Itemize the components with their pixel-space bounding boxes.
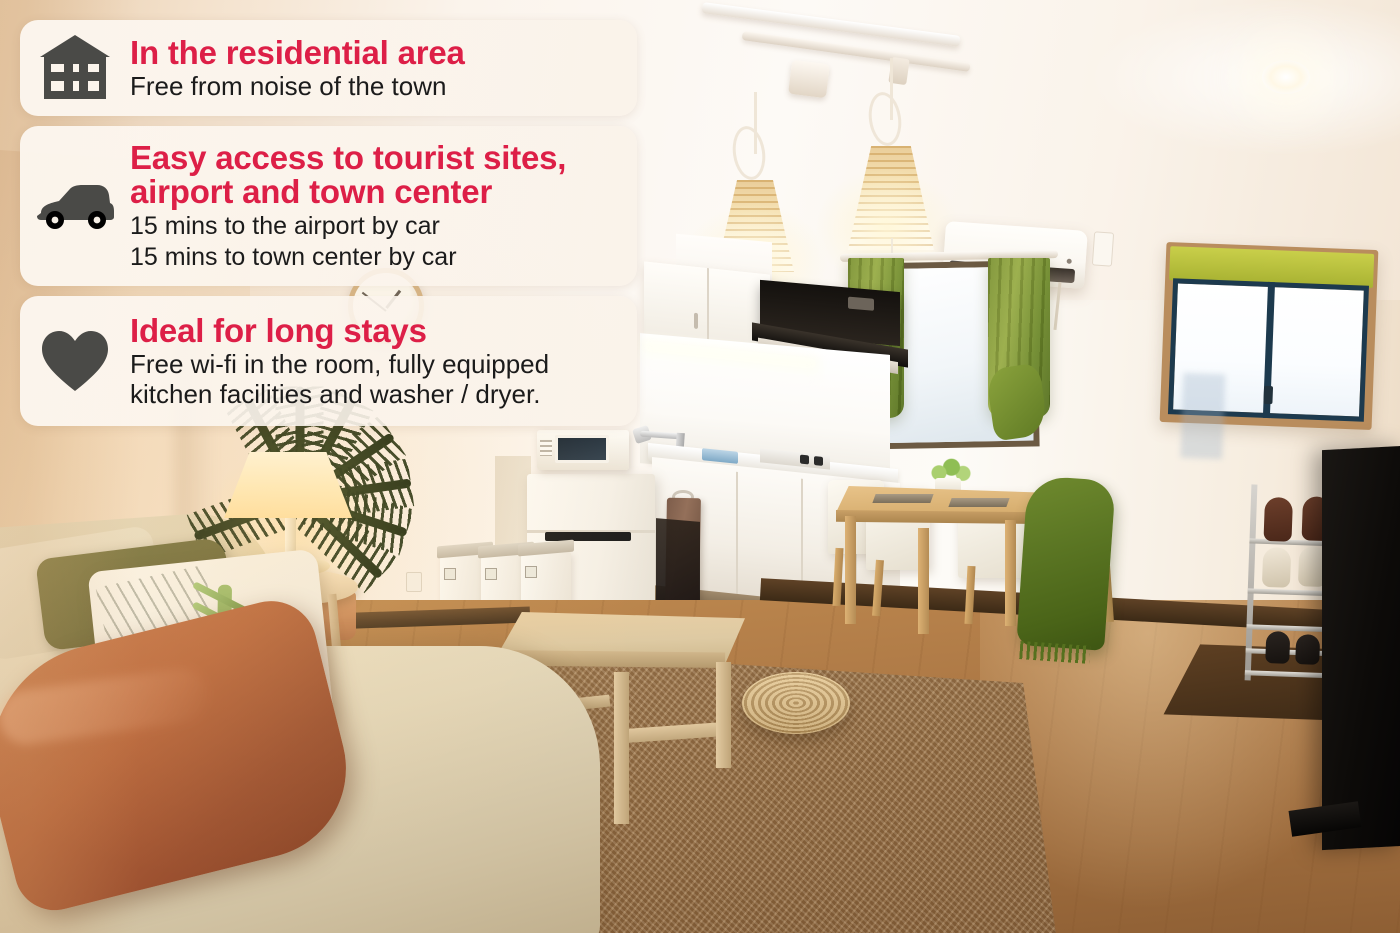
card-title: In the residential area xyxy=(130,36,465,70)
cooktop-knob xyxy=(814,456,823,466)
card-title-line-2: airport and town center xyxy=(130,175,566,209)
dining-table-leg xyxy=(845,516,856,624)
dining-table-leg xyxy=(1005,520,1016,626)
green-throw-blanket xyxy=(1016,475,1116,651)
aircon-led xyxy=(1067,259,1072,264)
television xyxy=(1322,446,1400,850)
card-subline-2: kitchen facilities and washer / dryer. xyxy=(130,380,549,408)
placemat xyxy=(948,498,1009,507)
heart-icon-slot xyxy=(20,329,130,393)
window-reflection xyxy=(1180,373,1225,460)
feature-card-residential-area: In the residential area Free from noise … xyxy=(20,20,637,116)
feature-card-long-stays: Ideal for long stays Free wi-fi in the r… xyxy=(20,296,637,426)
slipper xyxy=(1295,634,1320,665)
screenshot-root: In the residential area Free from noise … xyxy=(0,0,1400,933)
house-icon xyxy=(38,33,112,103)
wall-switch-plate xyxy=(1092,231,1114,266)
woven-pouf xyxy=(742,672,850,734)
trash-bin-label xyxy=(444,568,456,580)
green-curtain-right xyxy=(988,258,1050,418)
window-latch xyxy=(1263,386,1273,404)
right-window xyxy=(1160,242,1379,430)
cabinet-seam xyxy=(736,472,738,596)
coffee-table-leg xyxy=(614,672,629,824)
feature-card-easy-access: Easy access to tourist sites, airport an… xyxy=(20,126,637,286)
card-title: Ideal for long stays xyxy=(130,314,549,348)
card-subline-1: 15 mins to the airport by car xyxy=(130,213,566,240)
coffee-table-leg xyxy=(716,662,731,768)
card-text: Ideal for long stays Free wi-fi in the r… xyxy=(130,314,549,408)
card-subline: Free from noise of the town xyxy=(130,72,465,100)
card-subline-1: Free wi-fi in the room, fully equipped xyxy=(130,350,549,378)
card-text: In the residential area Free from noise … xyxy=(130,36,465,101)
ceiling-downlight xyxy=(1262,60,1310,94)
trash-bin-label xyxy=(525,566,537,578)
feature-cards: In the residential area Free from noise … xyxy=(0,0,700,460)
placemat xyxy=(872,494,933,503)
range-hood-panel xyxy=(848,297,874,311)
track-light-mount xyxy=(788,60,830,98)
dining-table-edge xyxy=(836,510,1048,524)
card-subline-2: 15 mins to town center by car xyxy=(130,244,566,271)
car-icon-slot xyxy=(20,181,130,231)
card-title-line-1: Easy access to tourist sites, xyxy=(130,141,566,175)
cooktop-knob xyxy=(800,455,809,465)
dining-table-leg xyxy=(918,528,929,634)
slipper xyxy=(1265,631,1290,664)
card-text: Easy access to tourist sites, airport an… xyxy=(130,141,566,270)
fridge-handle xyxy=(545,532,631,541)
range-hood xyxy=(760,280,900,346)
trash-bin-label xyxy=(485,568,497,580)
heart-icon xyxy=(40,329,110,393)
slipper xyxy=(1263,497,1293,542)
car-icon xyxy=(35,181,115,231)
slipper xyxy=(1262,547,1291,588)
house-icon-slot xyxy=(20,33,130,103)
